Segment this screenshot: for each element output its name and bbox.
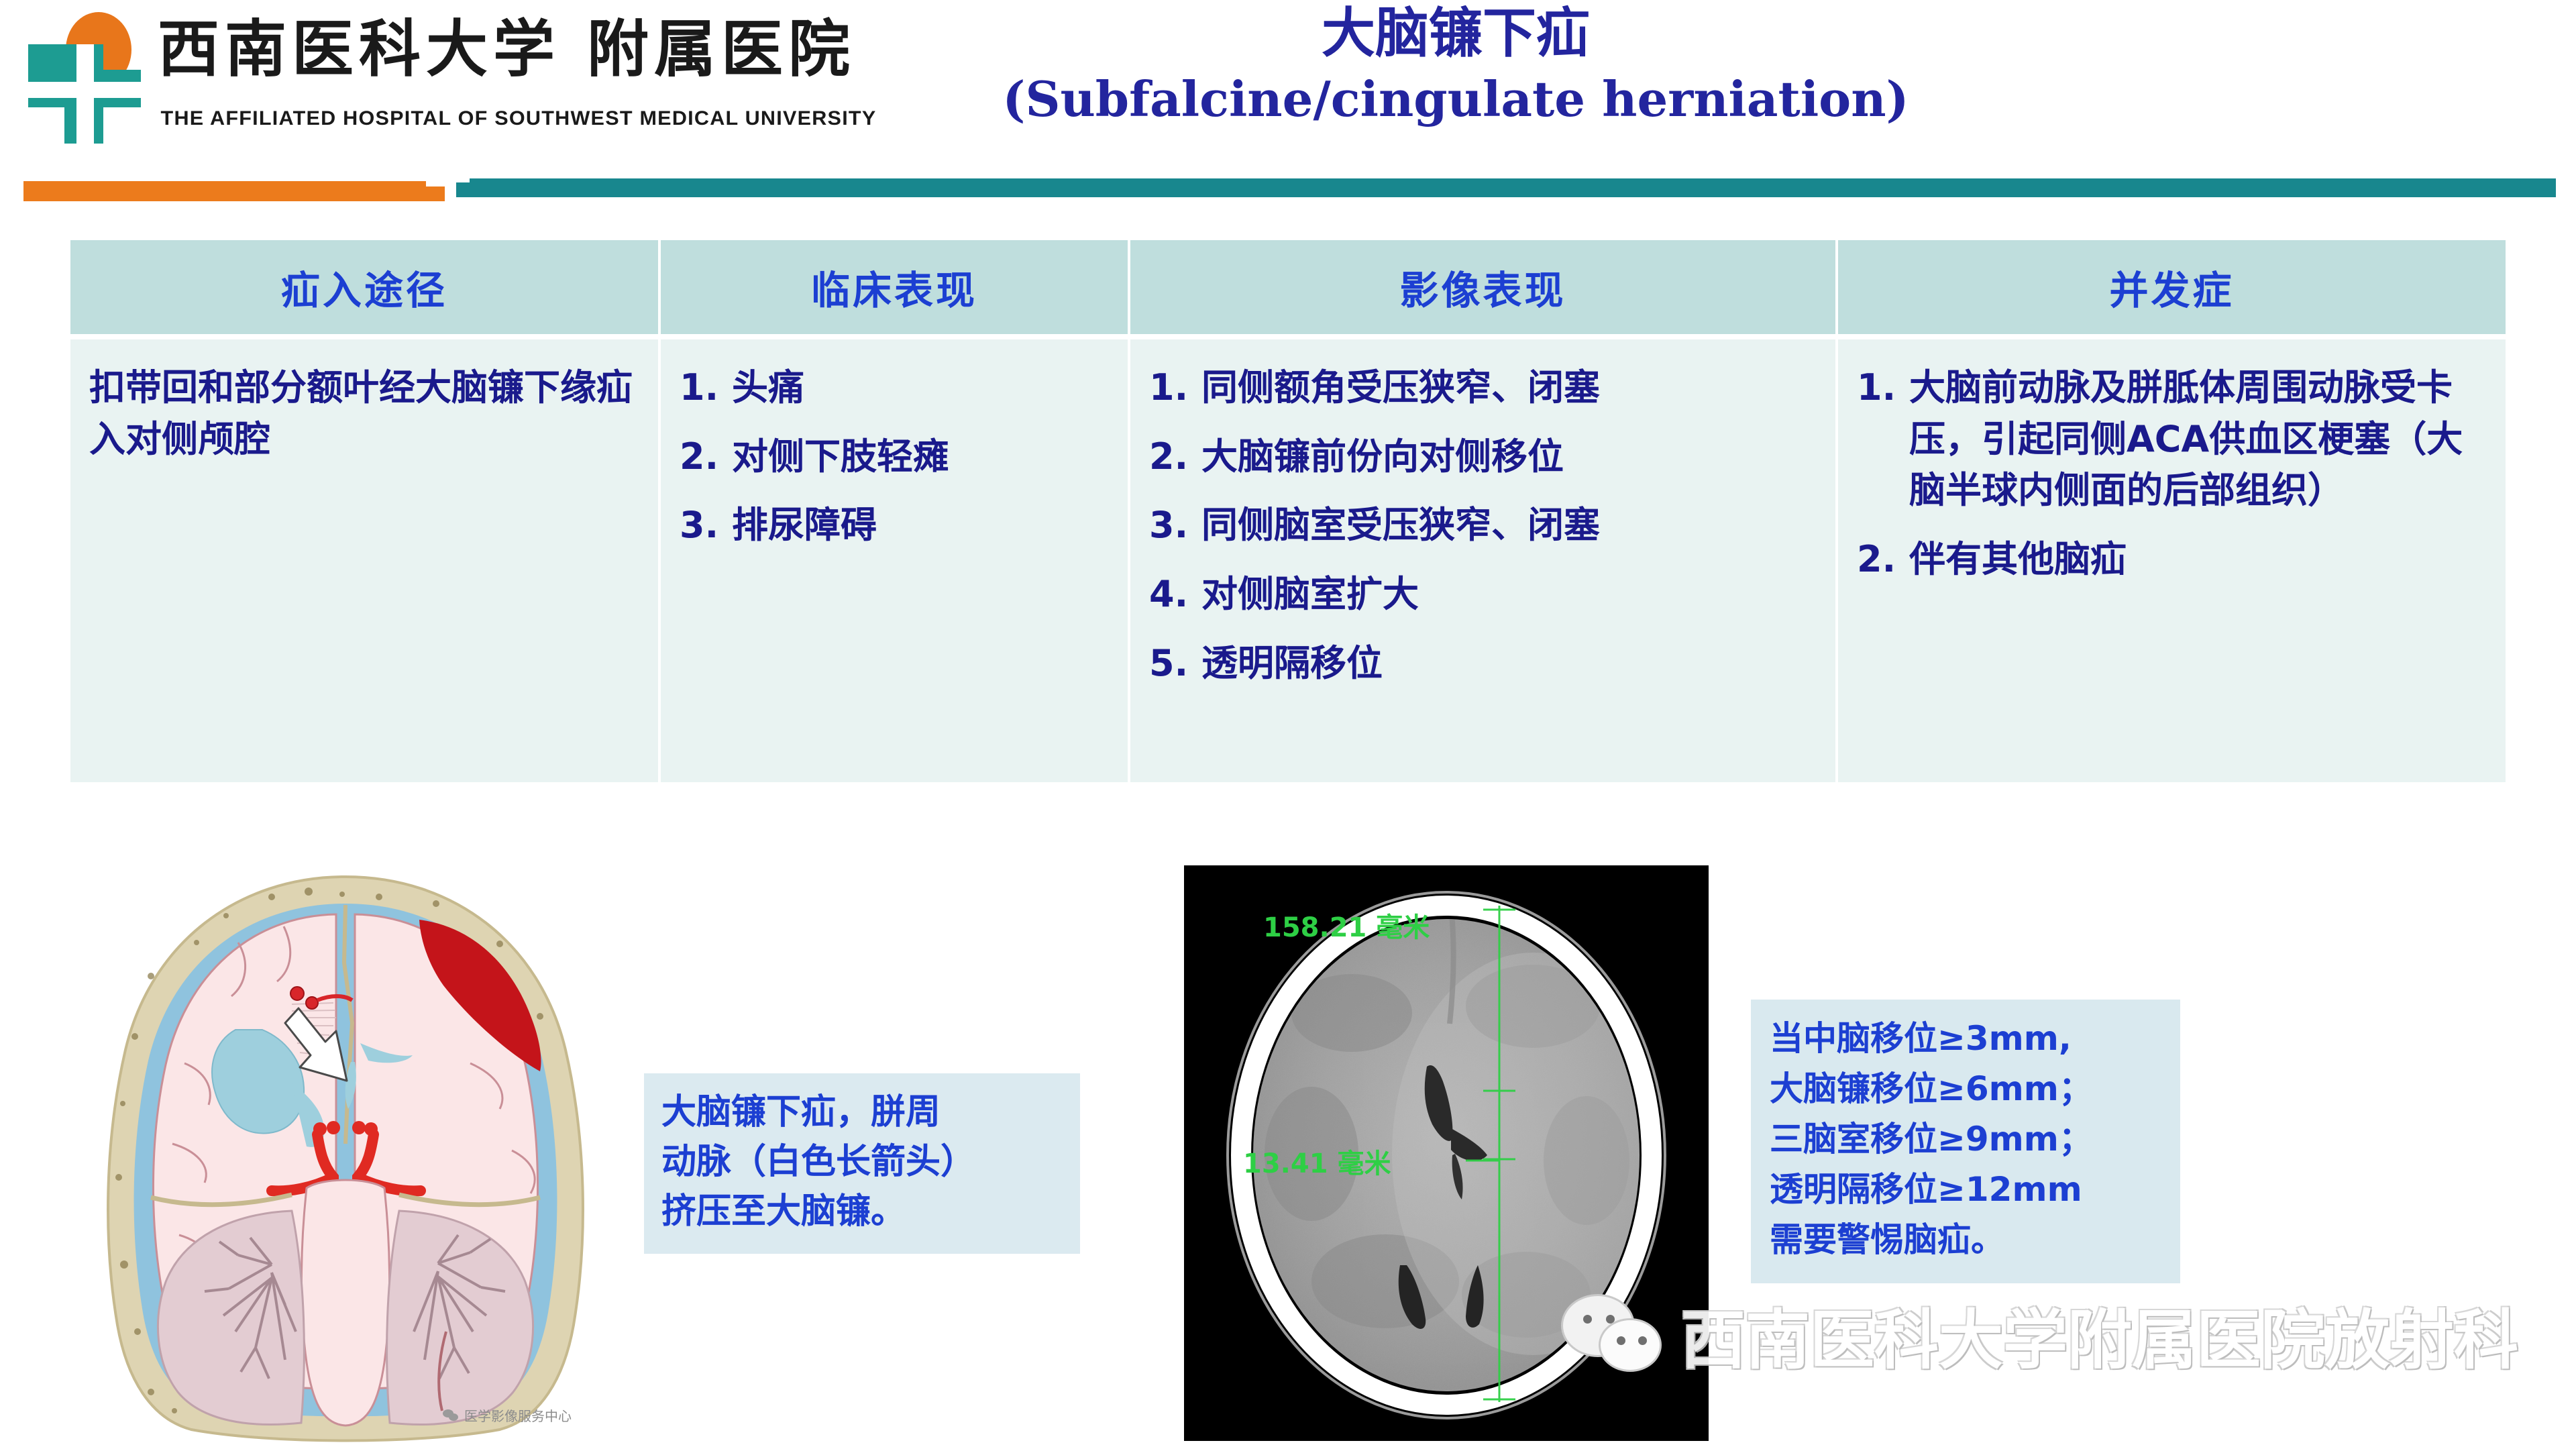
ct-scan-image: 158.21 毫米 13.41 毫米: [1184, 865, 1709, 1441]
list-item-number: 2.: [680, 431, 732, 483]
list-item-label: 同侧额角受压狭窄、闭塞: [1201, 362, 1821, 414]
caption-line: 挤压至大脑镰。: [661, 1187, 1064, 1237]
list-item-number: 3.: [680, 500, 732, 551]
list-item-number: 2.: [1149, 431, 1201, 483]
list-item: 4. 对侧脑室扩大: [1149, 569, 1821, 621]
list-item: 2. 对侧下肢轻瘫: [680, 431, 1113, 483]
ct-measurement-label-bottom: 13.41 毫米: [1243, 1148, 1391, 1179]
table-header-row: 疝入途径 临床表现 影像表现 并发症: [70, 240, 2506, 334]
list-item-label: 头痛: [732, 362, 1113, 414]
list-item-number: 4.: [1149, 569, 1201, 621]
table-header-cell-2: 临床表现: [661, 240, 1130, 334]
list-item-number: 5.: [1149, 638, 1201, 690]
table-body-row: 扣带回和部分额叶经大脑镰下缘疝入对侧颅腔 1. 头痛 2. 对侧下肢轻瘫 3. …: [70, 339, 2506, 782]
hospital-name-cn: 西南医科大学 附属医院: [158, 19, 855, 80]
herniation-route-text: 扣带回和部分额叶经大脑镰下缘疝入对侧颅腔: [89, 362, 643, 465]
clinical-features-list: 1. 头痛 2. 对侧下肢轻瘫 3. 排尿障碍: [680, 362, 1113, 551]
slide-title-cn: 大脑镰下疝: [953, 5, 1959, 62]
list-item-number: 1.: [1149, 362, 1201, 414]
list-item-label: 对侧下肢轻瘫: [732, 431, 1113, 483]
list-item: 1. 同侧额角受压狭窄、闭塞: [1149, 362, 1821, 414]
table-cell-complications: 1. 大脑前动脉及胼胝体周围动脉受卡压，引起同侧ACA供血区梗塞（大脑半球内侧面…: [1838, 339, 2506, 782]
list-item-number: 2.: [1857, 534, 1909, 586]
hospital-logo-block: 西南医科大学 附属医院 THE AFFILIATED HOSPITAL OF S…: [13, 7, 731, 164]
list-item-label: 同侧脑室受压狭窄、闭塞: [1201, 500, 1821, 551]
table-cell-imaging-features: 1. 同侧额角受压狭窄、闭塞 2. 大脑镰前份向对侧移位 3. 同侧脑室受压狭窄…: [1130, 339, 1838, 782]
slide-root: 西南医科大学 附属医院 THE AFFILIATED HOSPITAL OF S…: [0, 0, 2576, 1449]
column-header-label: 并发症: [2109, 259, 2234, 315]
list-item-number: 1.: [1857, 362, 1909, 517]
herniation-table: 疝入途径 临床表现 影像表现 并发症 扣带回和部分额叶经大脑镰下缘疝入对侧颅腔 …: [70, 240, 2506, 782]
measurement-line: 大脑镰移位≥6mm；: [1770, 1066, 2163, 1112]
caption-line: 动脉（白色长箭头）: [661, 1138, 1064, 1187]
list-item-label: 大脑镰前份向对侧移位: [1201, 431, 1821, 483]
list-item-number: 1.: [680, 362, 732, 414]
measurement-line: 三脑室移位≥9mm；: [1770, 1116, 2163, 1163]
list-item: 1. 大脑前动脉及胼胝体周围动脉受卡压，引起同侧ACA供血区梗塞（大脑半球内侧面…: [1857, 362, 2491, 517]
bottom-watermark-label: 西南医科大学附属医院放射科: [1681, 1288, 2518, 1381]
brain-diagram-svg: [70, 862, 621, 1449]
measurement-line: 需要警惕脑疝。: [1770, 1217, 2163, 1263]
list-item: 2. 大脑镰前份向对侧移位: [1149, 431, 1821, 483]
list-item: 3. 同侧脑室受压狭窄、闭塞: [1149, 500, 1821, 551]
column-header-label: 影像表现: [1399, 259, 1566, 315]
table-cell-herniation-route: 扣带回和部分额叶经大脑镰下缘疝入对侧颅腔: [70, 339, 661, 782]
header-rule-orange: [23, 186, 445, 201]
table-cell-clinical-features: 1. 头痛 2. 对侧下肢轻瘫 3. 排尿障碍: [661, 339, 1130, 782]
list-item: 1. 头痛: [680, 362, 1113, 414]
coronal-brain-illustration: 医学影像服务中心: [70, 862, 621, 1449]
table-header-cell-4: 并发症: [1838, 240, 2506, 334]
list-item-label: 透明隔移位: [1201, 638, 1821, 690]
list-item-number: 3.: [1149, 500, 1201, 551]
imaging-features-list: 1. 同侧额角受压狭窄、闭塞 2. 大脑镰前份向对侧移位 3. 同侧脑室受压狭窄…: [1149, 362, 1821, 689]
list-item-label: 排尿障碍: [732, 500, 1113, 551]
measurement-threshold-box: 当中脑移位≥3mm, 大脑镰移位≥6mm； 三脑室移位≥9mm； 透明隔移位≥1…: [1751, 1000, 2180, 1283]
illustration-watermark-label: 医学影像服务中心: [464, 1405, 572, 1425]
wechat-icon: [443, 1409, 460, 1421]
list-item: 3. 排尿障碍: [680, 500, 1113, 551]
table-header-cell-3: 影像表现: [1130, 240, 1838, 334]
measurement-line: 透明隔移位≥12mm: [1770, 1167, 2163, 1213]
column-header-label: 疝入途径: [281, 259, 447, 315]
measurement-line: 当中脑移位≥3mm,: [1770, 1016, 2163, 1062]
list-item-label: 大脑前动脉及胼胝体周围动脉受卡压，引起同侧ACA供血区梗塞（大脑半球内侧面的后部…: [1909, 362, 2491, 517]
column-header-label: 临床表现: [811, 259, 977, 315]
ct-scan-svg: 158.21 毫米 13.41 毫米: [1184, 865, 1709, 1441]
slide-title-en: (Subfalcine/cingulate herniation): [798, 74, 2113, 125]
list-item-label: 对侧脑室扩大: [1201, 569, 1821, 621]
ct-measurement-label-top: 158.21 毫米: [1263, 912, 1430, 943]
complications-list: 1. 大脑前动脉及胼胝体周围动脉受卡压，引起同侧ACA供血区梗塞（大脑半球内侧面…: [1857, 362, 2491, 586]
hospital-logo-mark-icon: [13, 12, 134, 140]
header-rule-teal: [456, 182, 2556, 197]
caption-line: 大脑镰下疝，胼周: [661, 1088, 1064, 1138]
list-item: 2. 伴有其他脑疝: [1857, 534, 2491, 586]
list-item-label: 伴有其他脑疝: [1909, 534, 2491, 586]
illustration-caption-box: 大脑镰下疝，胼周 动脉（白色长箭头） 挤压至大脑镰。: [644, 1073, 1080, 1254]
list-item: 5. 透明隔移位: [1149, 638, 1821, 690]
illustration-watermark: 医学影像服务中心: [443, 1405, 572, 1425]
hospital-name-en: THE AFFILIATED HOSPITAL OF SOUTHWEST MED…: [161, 107, 877, 130]
table-header-cell-1: 疝入途径: [70, 240, 661, 334]
